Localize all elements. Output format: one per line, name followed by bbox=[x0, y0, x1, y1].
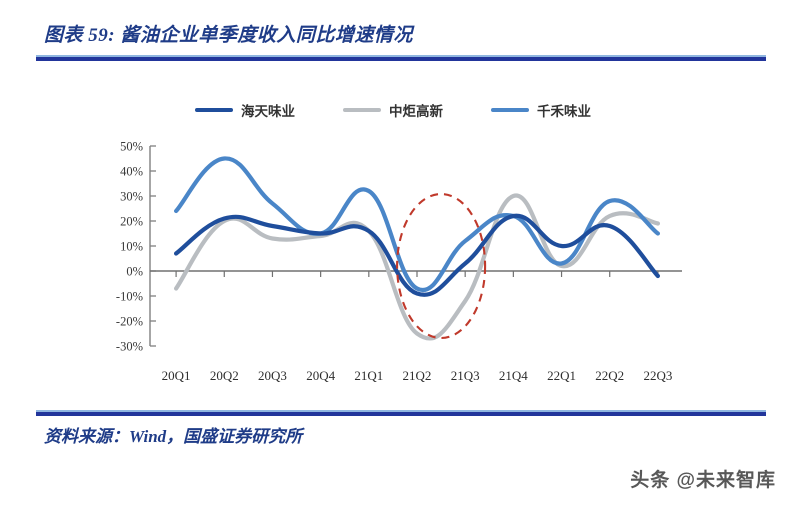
legend-item-qianhe: 千禾味业 bbox=[491, 100, 591, 120]
chart-plot-area: 50%40%30%20%10%0%-10%-20%-30% 20Q120Q220… bbox=[90, 138, 690, 388]
x-tick-label: 20Q3 bbox=[258, 368, 287, 383]
x-tick-label: 22Q1 bbox=[547, 368, 576, 383]
x-tick-label: 21Q1 bbox=[354, 368, 383, 383]
x-axis-tick-labels: 20Q120Q220Q320Q421Q121Q221Q321Q422Q122Q2… bbox=[162, 368, 673, 383]
y-axis bbox=[150, 146, 156, 346]
y-tick-label: -20% bbox=[116, 315, 143, 329]
watermark: 头条 @未来智库 bbox=[630, 465, 776, 492]
source-note: 资料来源：Wind，国盛证券研究所 bbox=[44, 422, 302, 447]
x-tick-label: 21Q3 bbox=[451, 368, 480, 383]
y-tick-label: 10% bbox=[120, 240, 143, 254]
x-tick-label: 20Q1 bbox=[162, 368, 191, 383]
legend-label-zhongju: 中炬高新 bbox=[389, 100, 443, 120]
legend-label-qianhe: 千禾味业 bbox=[537, 100, 591, 120]
x-tick-label: 20Q4 bbox=[306, 368, 335, 383]
y-tick-label: 20% bbox=[120, 215, 143, 229]
figure-title: 图表 59: 酱油企业单季度收入同比增速情况 bbox=[44, 20, 413, 47]
y-tick-label: 40% bbox=[120, 165, 143, 179]
series-line-haitian bbox=[176, 216, 658, 295]
x-tick-label: 22Q3 bbox=[643, 368, 672, 383]
legend-label-haitian: 海天味业 bbox=[241, 100, 295, 120]
x-tick-label: 20Q2 bbox=[210, 368, 239, 383]
x-tick-label: 21Q2 bbox=[403, 368, 432, 383]
x-tick-label: 22Q2 bbox=[595, 368, 624, 383]
y-tick-label: -10% bbox=[116, 290, 143, 304]
highlight-ellipse bbox=[397, 194, 485, 338]
figure-card: 图表 59: 酱油企业单季度收入同比增速情况 海天味业 中炬高新 千禾味业 50… bbox=[0, 0, 800, 506]
title-divider bbox=[36, 55, 766, 61]
legend-swatch-qianhe bbox=[491, 108, 529, 112]
data-series-group bbox=[176, 158, 658, 338]
y-tick-label: 50% bbox=[120, 140, 143, 154]
legend-item-haitian: 海天味业 bbox=[195, 100, 295, 120]
y-tick-label: 0% bbox=[126, 265, 143, 279]
line-chart-svg: 50%40%30%20%10%0%-10%-20%-30% 20Q120Q220… bbox=[90, 138, 690, 388]
highlight-ellipse-annotation bbox=[397, 194, 485, 338]
y-tick-label: -30% bbox=[116, 340, 143, 354]
y-axis-tick-labels: 50%40%30%20%10%0%-10%-20%-30% bbox=[116, 140, 143, 354]
x-axis-ticks bbox=[176, 271, 658, 277]
x-tick-label: 21Q4 bbox=[499, 368, 528, 383]
y-tick-label: 30% bbox=[120, 190, 143, 204]
source-divider bbox=[36, 410, 766, 416]
legend-swatch-zhongju bbox=[343, 108, 381, 112]
legend-swatch-haitian bbox=[195, 108, 233, 112]
legend-item-zhongju: 中炬高新 bbox=[343, 100, 443, 120]
chart-legend: 海天味业 中炬高新 千禾味业 bbox=[195, 98, 615, 122]
